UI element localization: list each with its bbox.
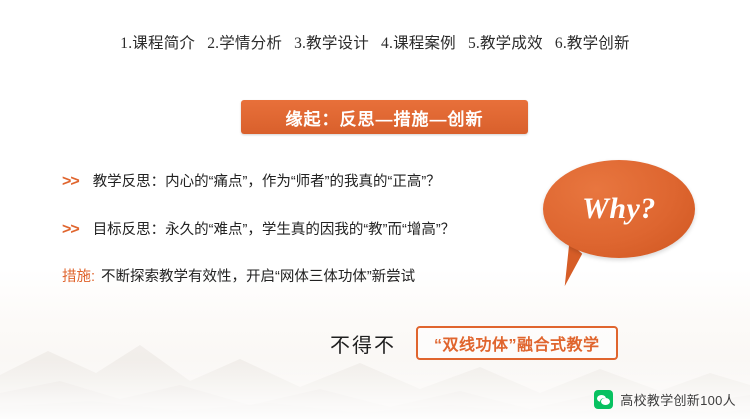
- nav-item-2-label: 学情分析: [219, 35, 282, 52]
- background-haze: [0, 359, 750, 419]
- nav-item-6-number: 6.: [555, 35, 567, 52]
- nav-item-2[interactable]: 2.学情分析: [207, 31, 282, 53]
- conclusion-prefix: 不得不: [330, 329, 396, 358]
- nav-item-5-number: 5.: [468, 35, 480, 52]
- banner-title: 缘起：反思—措施—创新: [241, 100, 528, 134]
- conclusion-row: 不得不 “双线功体”融合式教学: [330, 326, 618, 360]
- nav-item-2-number: 2.: [207, 35, 219, 52]
- watermark-text: 高校教学创新100人: [620, 390, 736, 409]
- bullet-text-1: 教学反思：内心的“痛点”，作为“师者”的我真的“正高”？: [93, 170, 441, 191]
- watermark: 高校教学创新100人: [594, 390, 736, 409]
- nav-item-1[interactable]: 1.课程简介: [120, 31, 195, 53]
- bullet-row-1: >> 教学反思：内心的“痛点”，作为“师者”的我真的“正高”？: [62, 170, 441, 191]
- measure-text: 不断探索教学有效性，开启“网体三体功体”新尝试: [101, 265, 415, 286]
- nav-item-4[interactable]: 4.课程案例: [381, 31, 456, 53]
- nav-item-4-label: 课程案例: [393, 35, 456, 52]
- speech-bubble: Why?: [543, 160, 695, 258]
- nav-item-5[interactable]: 5.教学成效: [468, 31, 543, 53]
- section-banner: 缘起：反思—措施—创新: [241, 100, 528, 134]
- nav-item-3[interactable]: 3.教学设计: [294, 31, 369, 53]
- measure-row: 措施: 不断探索教学有效性，开启“网体三体功体”新尝试: [62, 265, 415, 286]
- measure-label: 措施:: [62, 265, 95, 286]
- nav-item-1-number: 1.: [120, 35, 132, 52]
- nav-item-3-label: 教学设计: [306, 35, 369, 52]
- nav-item-5-label: 教学成效: [480, 35, 543, 52]
- nav-item-3-number: 3.: [294, 35, 306, 52]
- chevron-right-icon: >>: [62, 173, 79, 191]
- nav-item-6[interactable]: 6.教学创新: [555, 31, 630, 53]
- section-nav: 1.课程简介 2.学情分析 3.教学设计 4.课程案例 5.教学成效 6.教学创…: [0, 31, 750, 53]
- conclusion-pill-text: “双线功体”融合式教学: [434, 331, 600, 355]
- nav-item-4-number: 4.: [381, 35, 393, 52]
- speech-bubble-text: Why?: [543, 160, 695, 258]
- conclusion-pill: “双线功体”融合式教学: [416, 326, 618, 360]
- bullet-text-2: 目标反思：永久的“难点”，学生真的因我的“教”而“增高”？: [93, 218, 455, 239]
- slide-canvas: 1.课程简介 2.学情分析 3.教学设计 4.课程案例 5.教学成效 6.教学创…: [0, 0, 750, 419]
- chevron-right-icon: >>: [62, 221, 79, 239]
- wechat-icon: [594, 390, 613, 409]
- bullet-row-2: >> 目标反思：永久的“难点”，学生真的因我的“教”而“增高”？: [62, 218, 455, 239]
- nav-item-6-label: 教学创新: [567, 35, 630, 52]
- nav-item-1-label: 课程简介: [132, 35, 195, 52]
